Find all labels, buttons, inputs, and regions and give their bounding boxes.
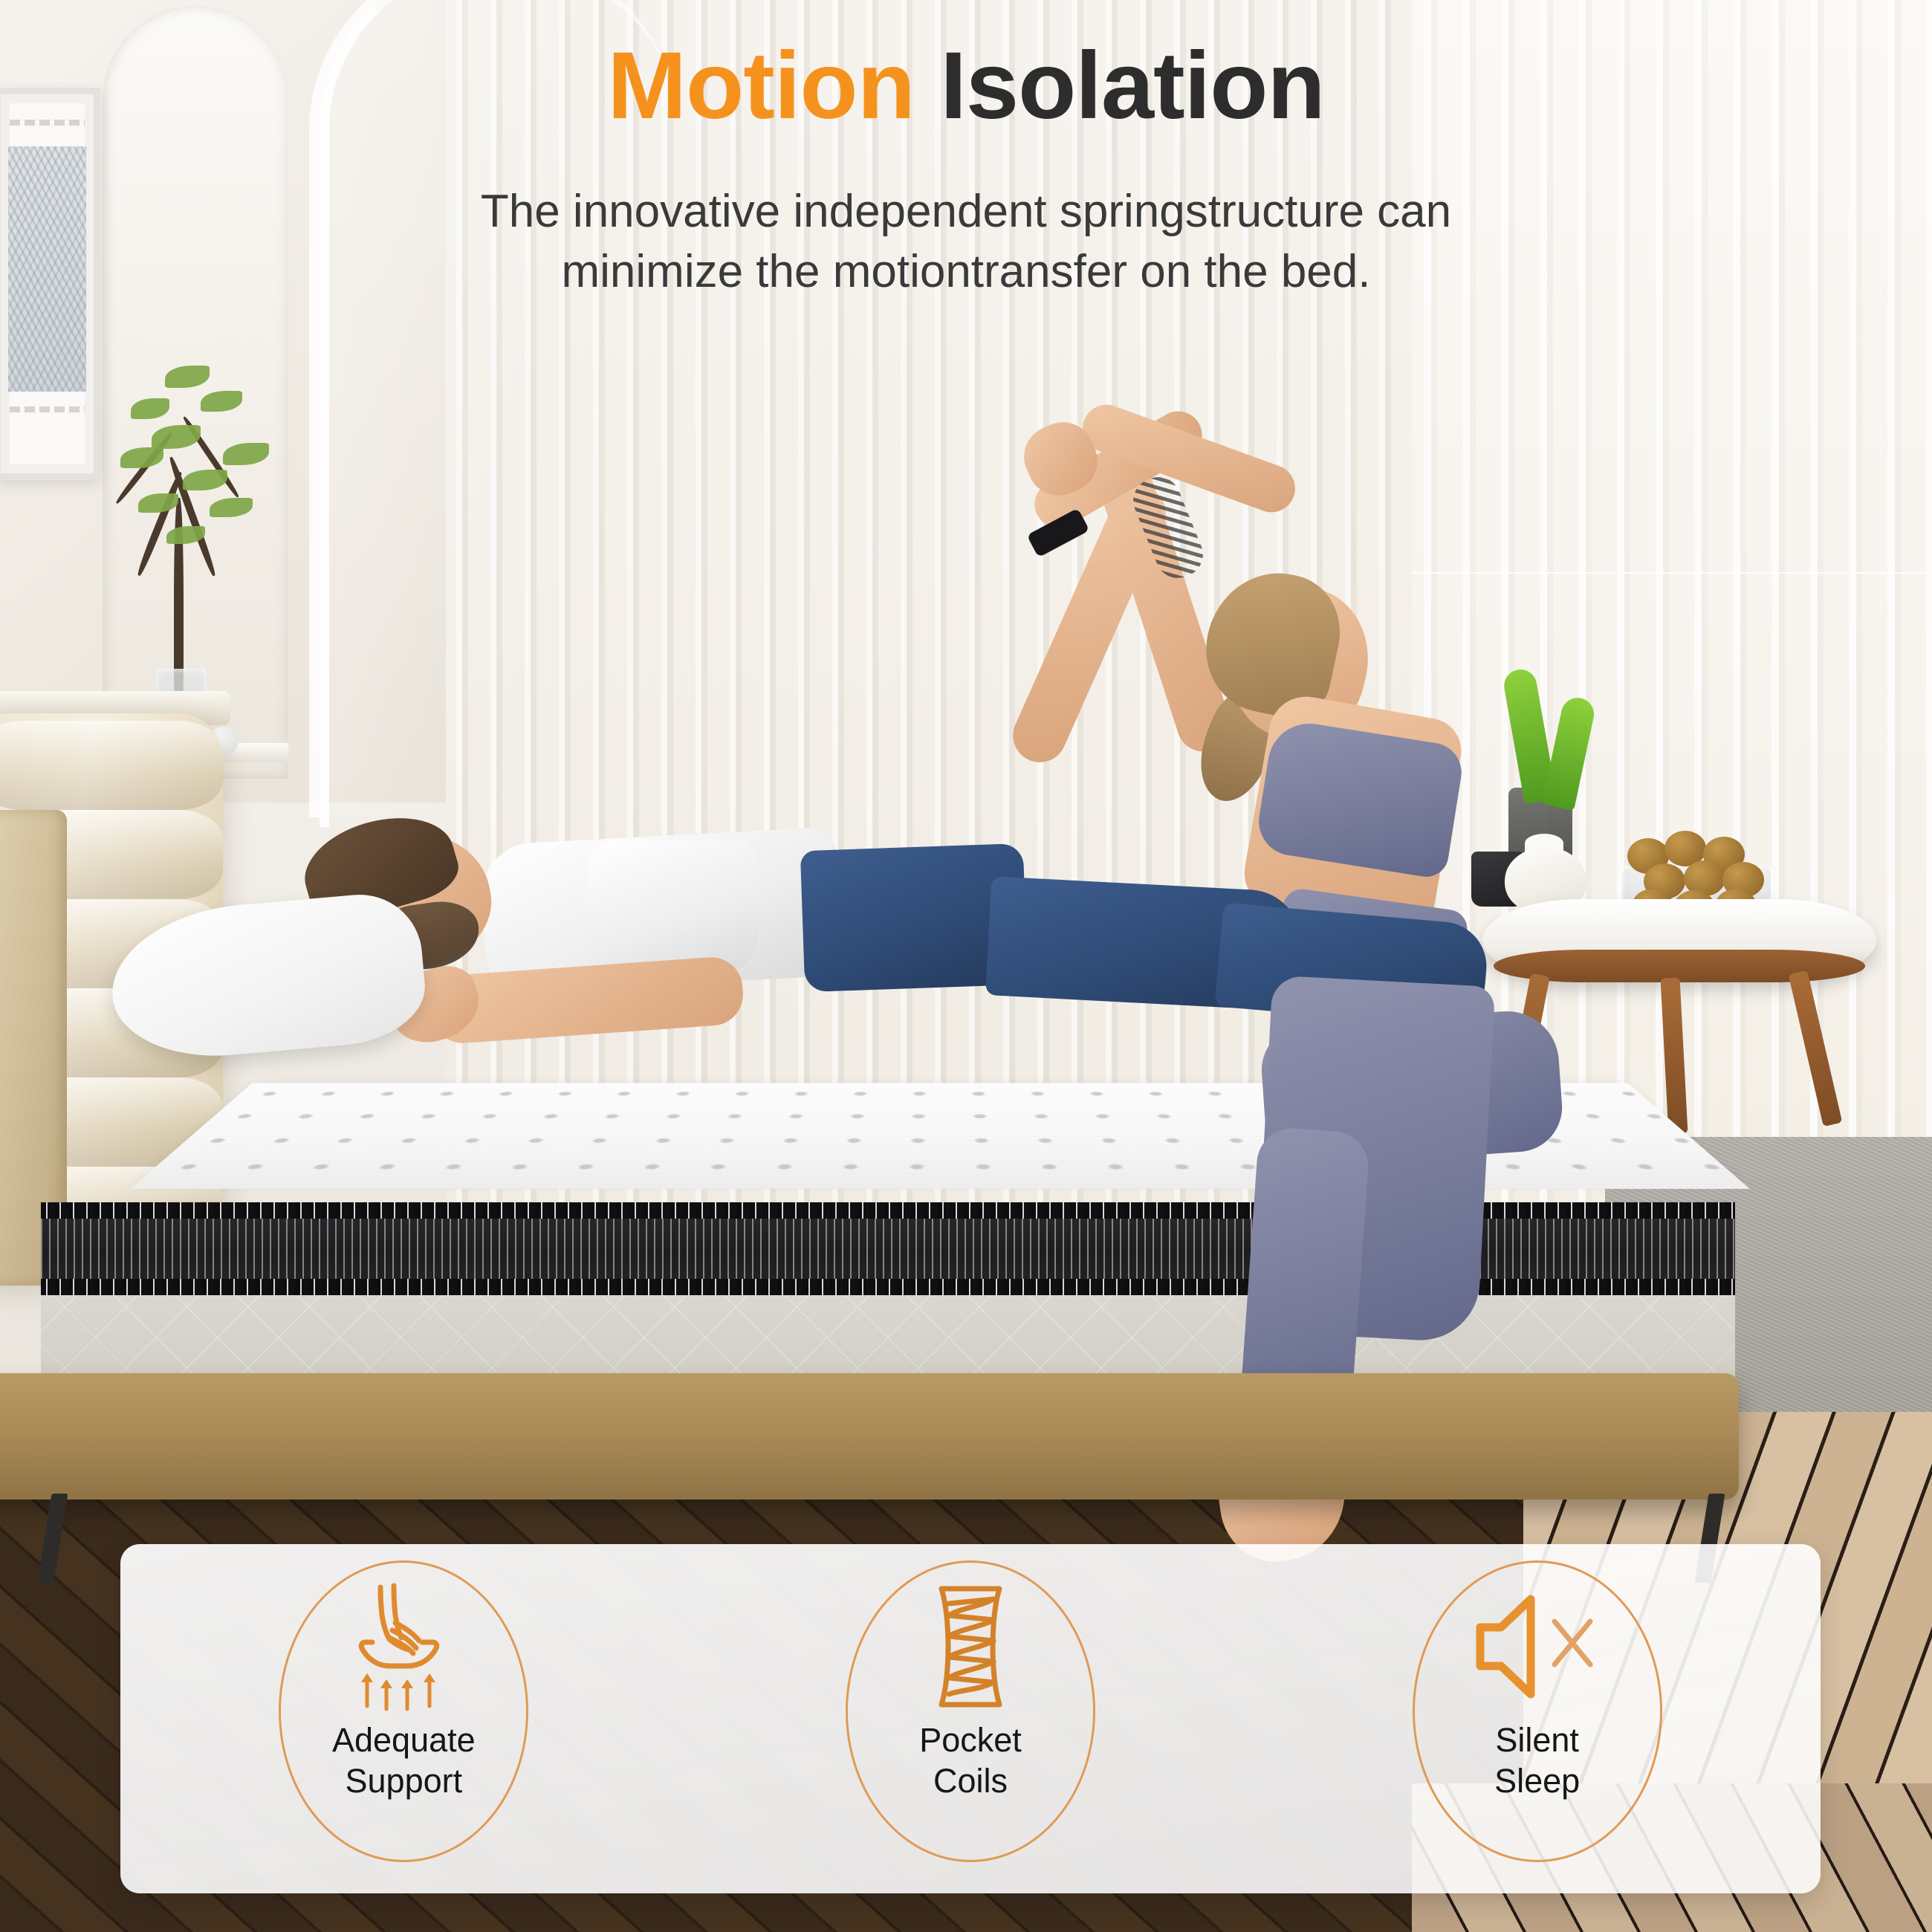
curtain-seam [1412, 572, 1932, 574]
teapot-lid [1525, 834, 1563, 853]
feature-label-line-2: Sleep [1494, 1761, 1580, 1802]
subtitle: The innovative independent springstructu… [0, 182, 1932, 302]
subtitle-line-1: The innovative independent springstructu… [0, 182, 1932, 242]
art-caption-bottom [10, 406, 85, 412]
feature-label: Silent Sleep [1494, 1720, 1580, 1802]
bed-base [0, 1373, 1739, 1500]
muted-speaker-icon [1459, 1581, 1615, 1711]
feature-label-line-2: Support [332, 1761, 476, 1802]
feature-label-line-1: Adequate [332, 1720, 476, 1761]
feature-silent-sleep[interactable]: Silent Sleep [1415, 1560, 1660, 1858]
feature-panel: Adequate Support [120, 1544, 1821, 1893]
feature-pocket-coils[interactable]: Pocket Coils [848, 1560, 1093, 1858]
page-title: Motion Isolation [0, 39, 1932, 134]
hand-pressing-support-icon [325, 1581, 482, 1711]
feature-label-line-1: Pocket [919, 1720, 1022, 1761]
feature-label: Adequate Support [332, 1720, 476, 1802]
subtitle-line-2: minimize the motiontransfer on the bed. [0, 242, 1932, 302]
man-sleeve [587, 840, 758, 977]
feature-label-line-1: Silent [1494, 1720, 1580, 1761]
feature-label-line-2: Coils [919, 1761, 1022, 1802]
headline-accent-word: Motion [607, 33, 914, 139]
feature-adequate-support[interactable]: Adequate Support [281, 1560, 526, 1858]
pocket-coil-spring-icon [892, 1581, 1048, 1711]
headline-rest: Isolation [915, 33, 1325, 139]
feature-label: Pocket Coils [919, 1720, 1022, 1802]
product-marketing-image: Motion Isolation The innovative independ… [0, 0, 1932, 1932]
